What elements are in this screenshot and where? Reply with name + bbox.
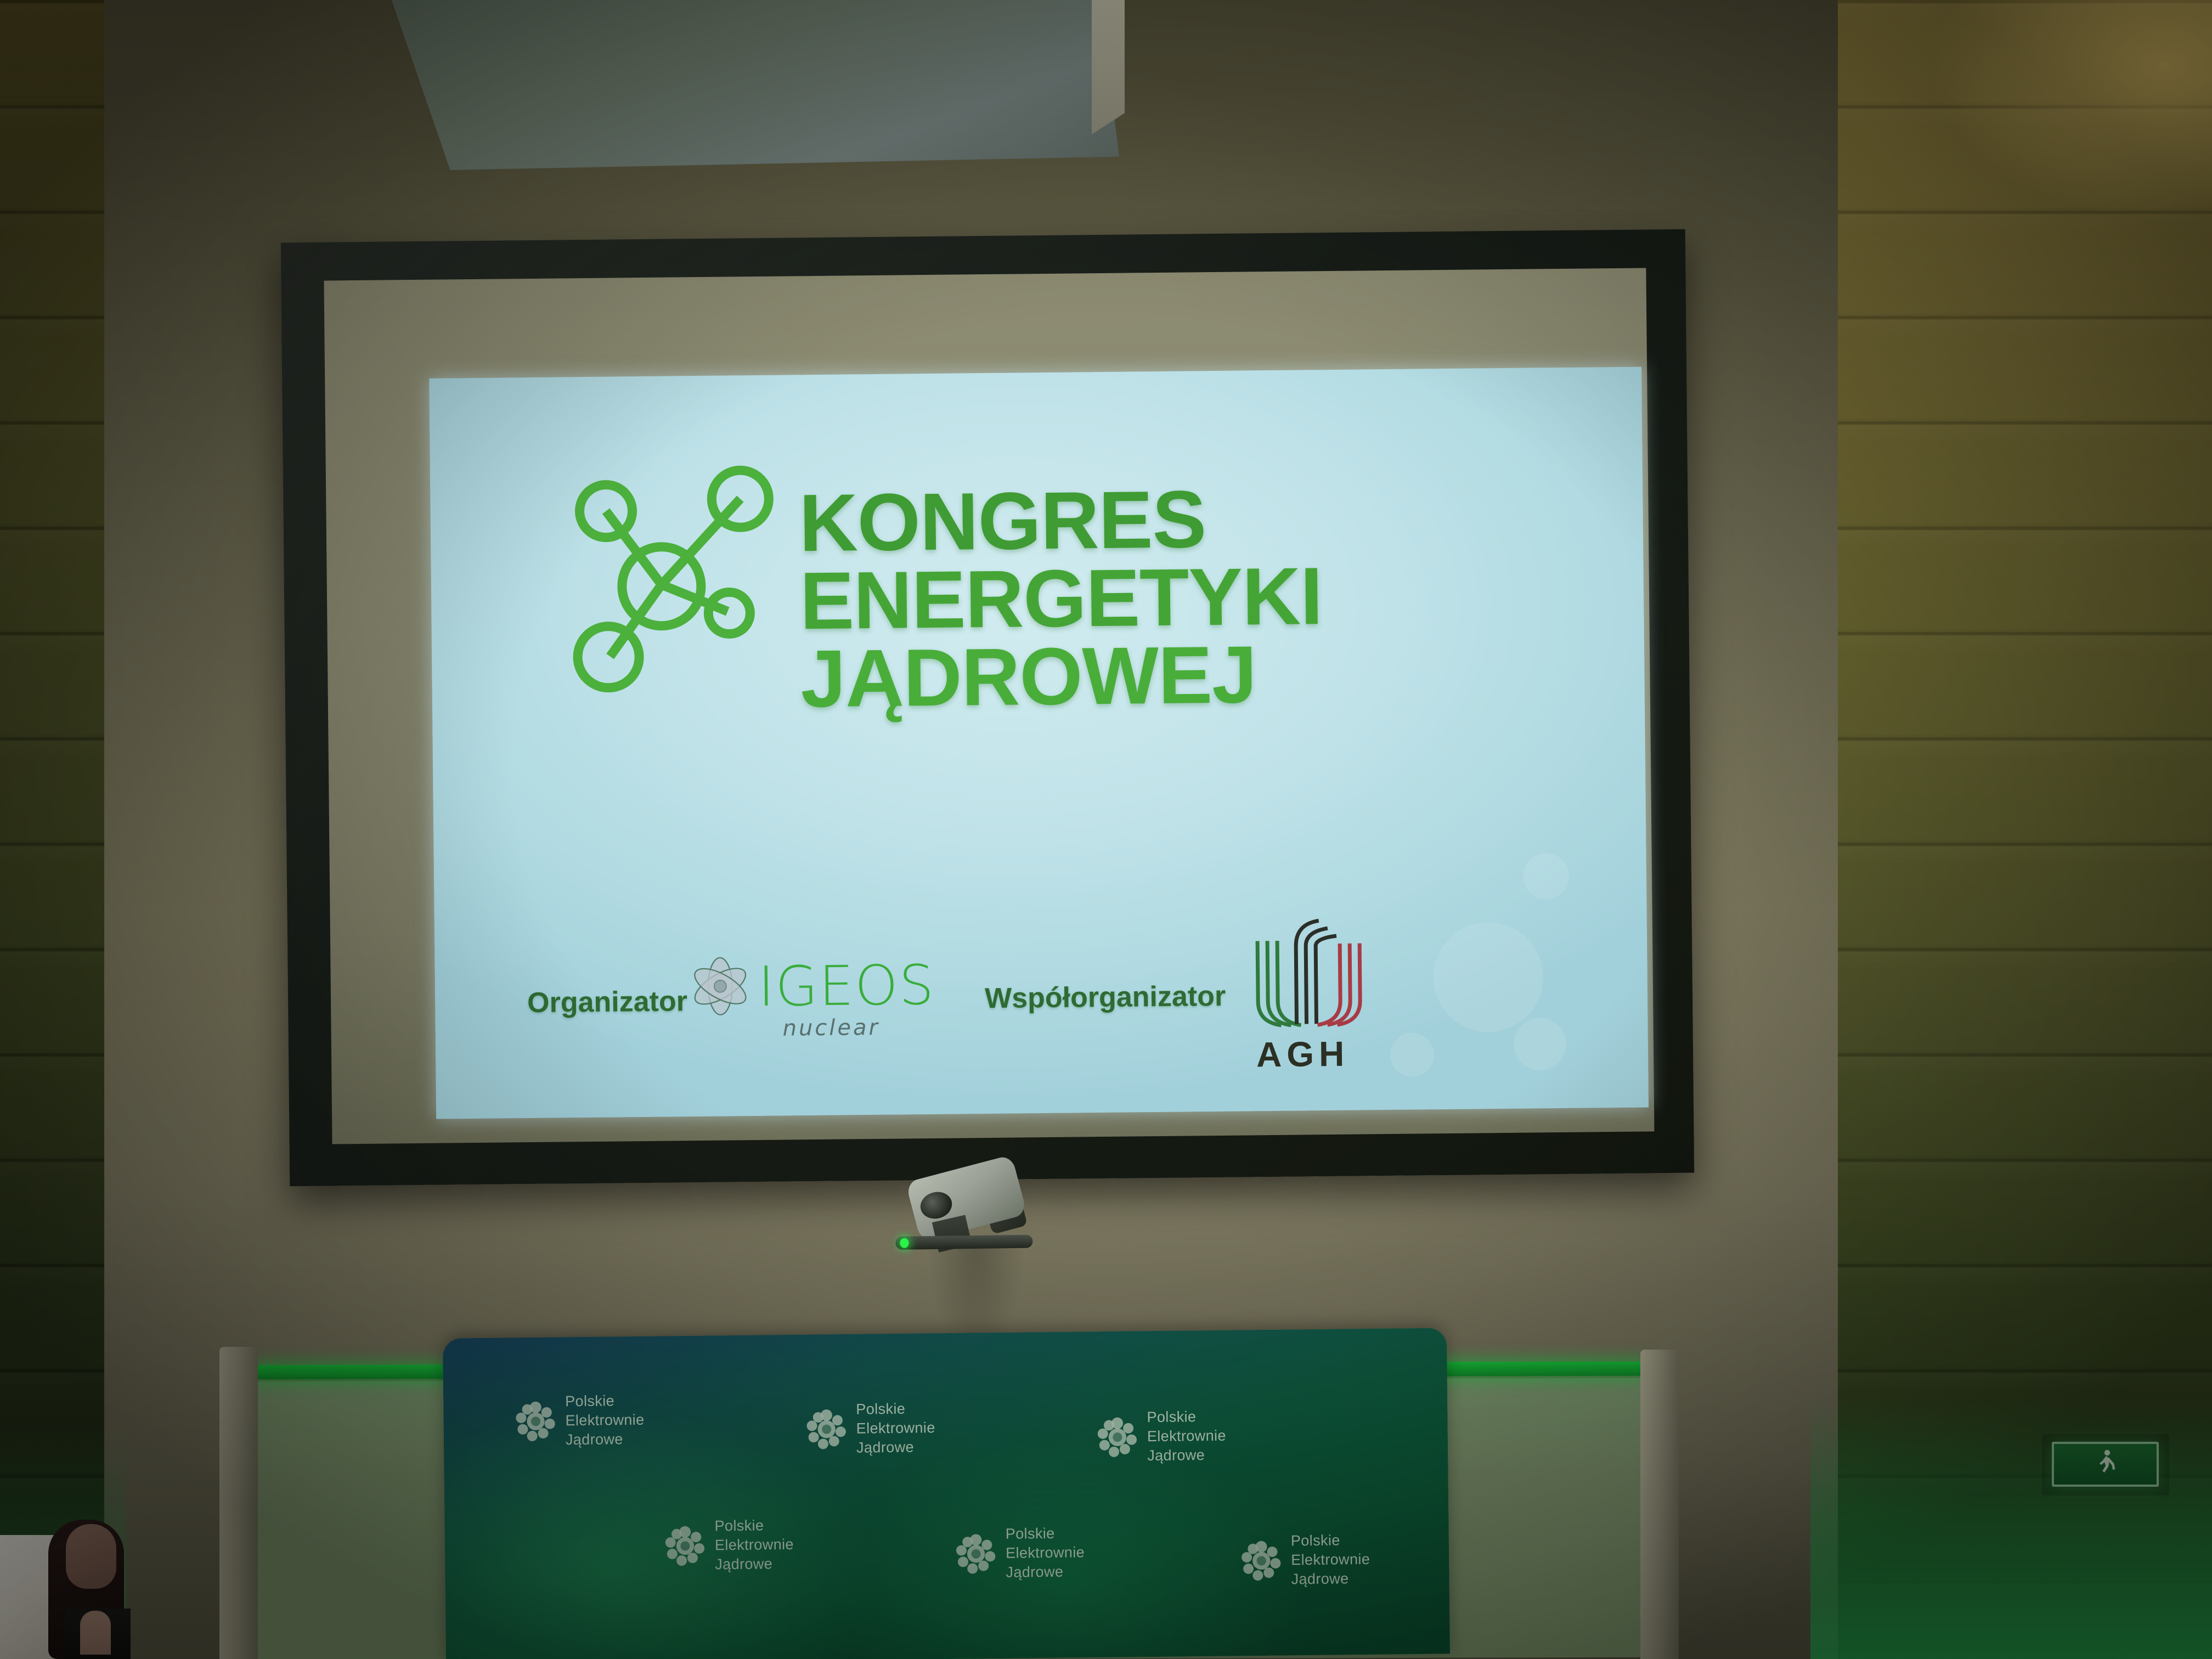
igeos-wordmark: IGEOS [758, 953, 935, 1019]
pej-flower-icon [515, 1400, 557, 1442]
pej-flower-icon [664, 1525, 707, 1567]
person-neckline [80, 1611, 111, 1655]
slide-title-line-1: KONGRES [799, 477, 1567, 563]
slide-title-line-3: JĄDROWEJ [800, 633, 1569, 719]
sponsor-name-line: Polskie [856, 1399, 935, 1419]
sponsor-logo-item: PolskieElektrownieJądrowe [515, 1391, 645, 1451]
webcam-mount-bar [895, 1235, 1032, 1250]
sponsor-name-line: Elektrownie [1291, 1550, 1370, 1570]
pej-flower-icon [1240, 1539, 1283, 1582]
sponsor-name-line: Elektrownie [715, 1535, 794, 1555]
sponsor-logo-item: PolskieElektrownieJądrowe [664, 1516, 794, 1575]
atom-icon [684, 950, 756, 1022]
sponsor-logo-item: PolskieElektrownieJądrowe [1240, 1531, 1370, 1590]
conference-room-scene: KONGRES ENERGETYKI JĄDROWEJ Organizator [0, 0, 2212, 1659]
slide-title: KONGRES ENERGETYKI JĄDROWEJ [799, 477, 1569, 719]
projection-screen-surface: KONGRES ENERGETYKI JĄDROWEJ Organizator [324, 268, 1654, 1144]
slide-footer: Organizator IGEOS nuclear [435, 915, 1649, 1091]
sponsor-logo-item: PolskieElektrownieJądrowe [805, 1399, 935, 1458]
person-face [66, 1524, 116, 1589]
sponsor-name-line: Jądrowe [715, 1554, 794, 1575]
pej-flower-icon [805, 1408, 848, 1451]
sponsor-name: PolskieElektrownieJądrowe [565, 1391, 645, 1450]
sponsor-name-line: Jądrowe [1147, 1446, 1226, 1466]
molecule-network-icon [545, 460, 789, 703]
sponsor-name: PolskieElektrownieJądrowe [856, 1399, 935, 1458]
sponsor-name-line: Polskie [565, 1391, 644, 1412]
sponsor-logo-item: PolskieElektrownieJądrowe [955, 1523, 1085, 1583]
sponsor-name-line: Polskie [1006, 1523, 1085, 1544]
sponsor-name-line: Elektrownie [1147, 1426, 1226, 1447]
ceiling-acoustic-panel [384, 0, 1119, 170]
pej-flower-icon [955, 1533, 997, 1575]
sponsor-name-line: Elektrownie [1006, 1543, 1085, 1563]
slide-watermark-node-a [1523, 853, 1570, 900]
sponsor-logo-item: PolskieElektrownieJądrowe [1096, 1407, 1226, 1466]
igeos-subtitle: nuclear [782, 1015, 880, 1041]
agh-wordmark: AGH [1256, 1034, 1350, 1075]
sponsor-banner: PolskieElektrownieJądrowePolskieElektrow… [443, 1328, 1450, 1659]
projected-slide: KONGRES ENERGETYKI JĄDROWEJ Organizator [429, 367, 1649, 1119]
sponsor-name-line: Jądrowe [856, 1437, 935, 1458]
webcam-status-led [900, 1238, 909, 1248]
sponsor-name-line: Polskie [1291, 1531, 1370, 1551]
sponsor-name-line: Polskie [714, 1516, 793, 1536]
partition-post-right [1640, 1350, 1679, 1659]
sponsor-name-line: Jądrowe [566, 1430, 645, 1450]
emergency-exit-running-man-icon [2096, 1449, 2115, 1480]
igeos-logo: IGEOS nuclear [684, 949, 894, 1061]
slide-title-line-2: ENERGETYKI [799, 555, 1568, 641]
partition-post-left [219, 1347, 258, 1659]
sponsor-name-line: Elektrownie [565, 1410, 644, 1431]
sponsor-name-line: Elektrownie [856, 1418, 935, 1438]
agh-logo: AGH [1245, 913, 1384, 1085]
sponsor-name-line: Jądrowe [1006, 1562, 1085, 1583]
sponsor-name: PolskieElektrownieJądrowe [714, 1516, 794, 1575]
sponsor-name: PolskieElektrownieJądrowe [1291, 1531, 1370, 1589]
audience-members [0, 1503, 148, 1659]
organizer-label: Organizator [527, 985, 687, 1019]
emergency-exit-sign [2052, 1442, 2159, 1487]
sponsor-name: PolskieElektrownieJądrowe [1006, 1523, 1085, 1582]
projection-screen-frame: KONGRES ENERGETYKI JĄDROWEJ Organizator [281, 229, 1694, 1186]
pej-flower-icon [1096, 1416, 1138, 1458]
sponsor-name: PolskieElektrownieJądrowe [1147, 1407, 1226, 1466]
webcam-assembly [877, 1150, 1076, 1296]
sponsor-name-line: Polskie [1147, 1407, 1226, 1427]
agh-pillars-icon [1245, 913, 1373, 1032]
coorganizer-label: Współorganizator [985, 980, 1226, 1015]
sponsor-name-line: Jądrowe [1291, 1569, 1370, 1589]
